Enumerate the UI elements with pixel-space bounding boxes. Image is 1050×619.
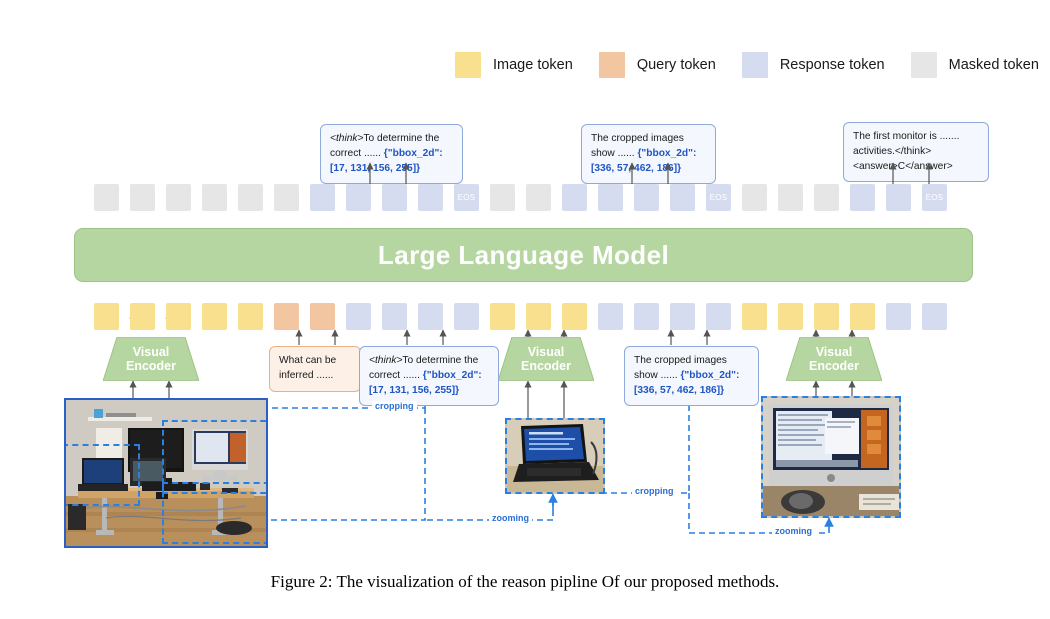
token-response-14 <box>598 303 623 330</box>
token-query-6 <box>310 303 335 330</box>
flow-label-zooming-1: zooming <box>489 513 532 523</box>
token-image-1 <box>130 303 155 330</box>
figure-caption: Figure 2: The visualization of the reaso… <box>0 572 1050 592</box>
desk-overview-photo[interactable] <box>64 398 268 548</box>
token-masked-4 <box>238 184 263 211</box>
bcropped-bbox-key: {"bbox_2d": <box>680 370 739 381</box>
bcropped-line2: show ...... <box>634 370 678 381</box>
legend-item-response-token: Response token <box>742 52 885 78</box>
bcropped-bbox-coords: [336, 57, 462, 186]} <box>634 385 724 396</box>
think-bbox-coords: [17, 131, 156, 255]} <box>330 163 420 174</box>
flow-label-zooming-2: zooming <box>772 526 815 536</box>
legend-label-image-token: Image token <box>493 57 573 73</box>
query-line1: What can be <box>279 355 336 366</box>
token-response-eos-10: EOS <box>454 184 479 211</box>
token-masked-1 <box>130 184 155 211</box>
token-image-4 <box>238 303 263 330</box>
encoder-trapezoid-shape <box>786 337 882 381</box>
token-masked-0 <box>94 184 119 211</box>
token-legend: Image token Query token Response token M… <box>455 52 1050 78</box>
cropped-line1: The cropped images <box>591 133 684 144</box>
token-image-13 <box>562 303 587 330</box>
cropped-line2: show ...... <box>591 148 635 159</box>
token-response-8 <box>382 303 407 330</box>
token-masked-18 <box>742 184 767 211</box>
laptop-crop-photo[interactable] <box>505 418 605 494</box>
think-open-tag: <think> <box>369 355 402 366</box>
think-line1-rest: To determine the <box>363 133 439 144</box>
output-bubble-cropped: The cropped images show ...... {"bbox_2d… <box>581 124 716 184</box>
imac-crop-graphic <box>763 398 899 516</box>
laptop-crop-graphic <box>507 420 603 492</box>
visual-encoder-2[interactable]: Visual Encoder <box>498 337 594 381</box>
token-response-8 <box>382 184 407 211</box>
legend-item-image-token: Image token <box>455 52 573 78</box>
legend-swatch-masked-token <box>911 52 937 78</box>
encoder-trapezoid-shape <box>498 337 594 381</box>
answer-line1: The first monitor is ....... <box>853 131 959 142</box>
token-response-6 <box>310 184 335 211</box>
bthink-bbox-key: {"bbox_2d": <box>423 370 482 381</box>
legend-label-masked-token: Masked token <box>949 57 1039 73</box>
token-response-9 <box>418 303 443 330</box>
token-response-16 <box>670 303 695 330</box>
token-response-7 <box>346 184 371 211</box>
input-bubble-query: What can be inferred ...... <box>269 346 361 392</box>
think-line2: correct ...... <box>330 148 381 159</box>
answer-line2: activities.</think> <box>853 146 931 157</box>
token-image-3 <box>202 303 227 330</box>
token-image-19 <box>778 303 803 330</box>
token-image-18 <box>742 303 767 330</box>
token-image-20 <box>814 303 839 330</box>
token-image-12 <box>526 303 551 330</box>
token-image-0 <box>94 303 119 330</box>
bbox-desk-region <box>162 482 268 544</box>
imac-monitor-crop-photo[interactable] <box>761 396 901 518</box>
token-image-2 <box>166 303 191 330</box>
input-bubble-think: <think>To determine the correct ...... {… <box>359 346 499 406</box>
token-masked-20 <box>814 184 839 211</box>
legend-item-query-token: Query token <box>599 52 716 78</box>
token-response-14 <box>598 184 623 211</box>
legend-label-response-token: Response token <box>780 57 885 73</box>
legend-label-query-token: Query token <box>637 57 716 73</box>
large-language-model-box[interactable]: Large Language Model <box>74 228 973 282</box>
token-response-13 <box>562 184 587 211</box>
eos-label: EOS <box>926 193 944 202</box>
bcropped-line1: The cropped images <box>634 355 727 366</box>
output-bubble-answer: The first monitor is ....... activities.… <box>843 122 989 182</box>
legend-item-masked-token: Masked token <box>911 52 1039 78</box>
token-response-10 <box>454 303 479 330</box>
input-token-row <box>94 303 947 330</box>
token-masked-19 <box>778 184 803 211</box>
legend-swatch-query-token <box>599 52 625 78</box>
token-response-21 <box>850 184 875 211</box>
token-response-22 <box>886 184 911 211</box>
output-token-row: EOSEOSEOS <box>94 184 947 211</box>
think-bbox-key: {"bbox_2d": <box>384 148 443 159</box>
token-masked-2 <box>166 184 191 211</box>
visual-encoder-3[interactable]: Visual Encoder <box>786 337 882 381</box>
token-response-17 <box>706 303 731 330</box>
token-response-eos-17: EOS <box>706 184 731 211</box>
token-response-7 <box>346 303 371 330</box>
token-response-23 <box>922 303 947 330</box>
query-line2: inferred ...... <box>279 370 333 381</box>
token-masked-11 <box>490 184 515 211</box>
bthink-line2: correct ...... <box>369 370 420 381</box>
legend-swatch-response-token <box>742 52 768 78</box>
token-masked-5 <box>274 184 299 211</box>
answer-line3: <answer>C</answer> <box>853 161 953 172</box>
bthink-bbox-coords: [17, 131, 156, 255]} <box>369 385 459 396</box>
think-open-tag: <think> <box>330 133 363 144</box>
llm-title: Large Language Model <box>378 240 669 271</box>
encoder-trapezoid-shape <box>103 337 199 381</box>
output-bubble-think: <think>To determine the correct ...... {… <box>320 124 463 184</box>
token-response-16 <box>670 184 695 211</box>
visual-encoder-1[interactable]: Visual Encoder <box>103 337 199 381</box>
eos-label: EOS <box>710 193 728 202</box>
token-response-15 <box>634 303 659 330</box>
legend-swatch-image-token <box>455 52 481 78</box>
token-masked-12 <box>526 184 551 211</box>
token-response-9 <box>418 184 443 211</box>
token-response-22 <box>886 303 911 330</box>
token-query-5 <box>274 303 299 330</box>
flow-label-cropping-1: cropping <box>372 401 417 411</box>
input-bubble-cropped: The cropped images show ...... {"bbox_2d… <box>624 346 759 406</box>
token-response-15 <box>634 184 659 211</box>
bthink-line1-rest: To determine the <box>402 355 478 366</box>
cropped-bbox-coords: [336, 57, 462, 186]} <box>591 163 681 174</box>
token-masked-3 <box>202 184 227 211</box>
bbox-laptop-region <box>64 444 140 506</box>
flow-label-cropping-2: cropping <box>632 486 677 496</box>
token-image-21 <box>850 303 875 330</box>
token-image-11 <box>490 303 515 330</box>
eos-label: EOS <box>458 193 476 202</box>
cropped-bbox-key: {"bbox_2d": <box>637 148 696 159</box>
token-response-eos-23: EOS <box>922 184 947 211</box>
